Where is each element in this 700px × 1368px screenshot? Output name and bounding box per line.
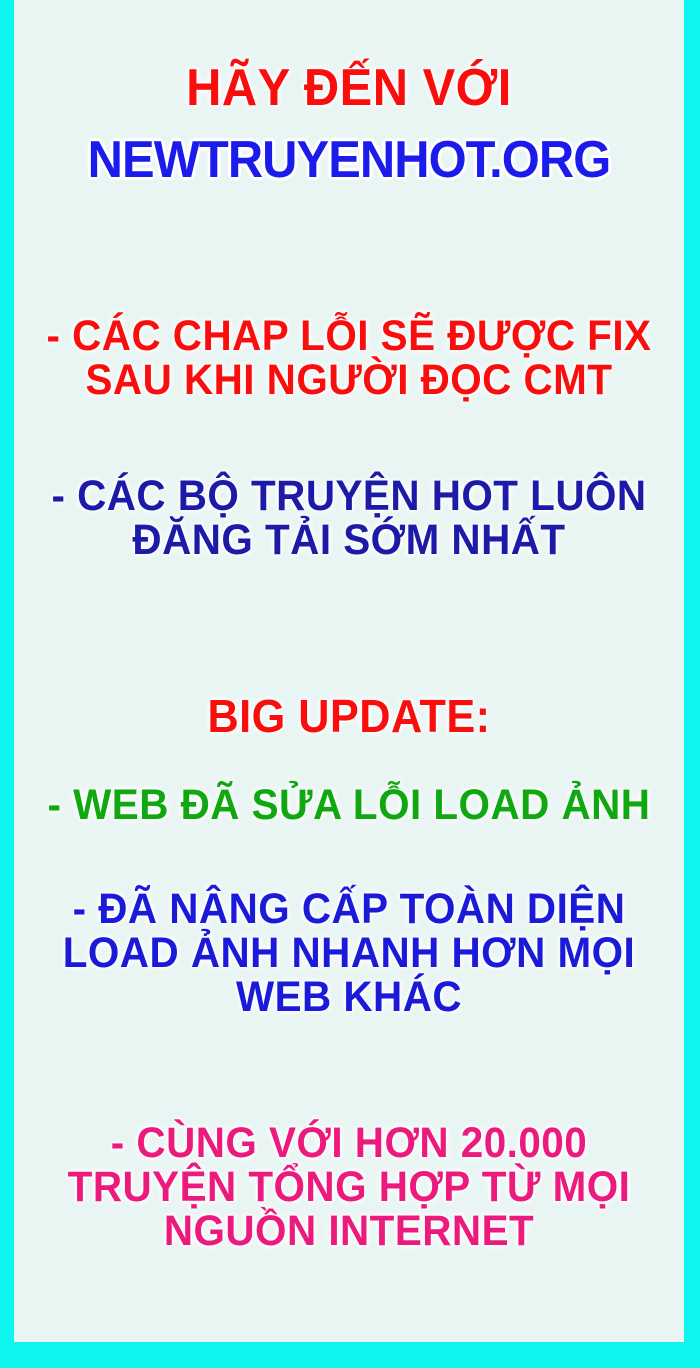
banner-surface: HÃY ĐẾN VỚI NEWTRUYENHOT.ORG - CÁC CHAP … [14, 0, 684, 1342]
headline-text: HÃY ĐẾN VỚI [44, 62, 655, 115]
update-green-block: - WEB ĐÃ SỬA LỖI LOAD ẢNH [24, 784, 674, 828]
notice-red-line-1: - CÁC CHAP LỖI SẼ ĐƯỢC FIX [44, 315, 655, 359]
notice-red-line-2: SAU KHI NGƯỜI ĐỌC CMT [44, 359, 655, 403]
update-green-line-1: - WEB ĐÃ SỬA LỖI LOAD ẢNH [44, 784, 655, 828]
frame-bar-left [0, 0, 14, 1368]
notice-red-block: - CÁC CHAP LỖI SẼ ĐƯỢC FIX SAU KHI NGƯỜI… [24, 315, 674, 403]
update-blue-line-3: WEB KHÁC [44, 976, 655, 1020]
notice-blue-line-2: ĐĂNG TẢI SỚM NHẤT [44, 519, 655, 563]
update-blue-block: - ĐÃ NÂNG CẤP TOÀN DIỆN LOAD ẢNH NHANH H… [24, 888, 674, 1020]
update-pink-line-2: TRUYỆN TỔNG HỢP TỪ MỌI [44, 1166, 655, 1210]
update-heading-block: BIG UPDATE: [24, 693, 674, 740]
headline-block: HÃY ĐẾN VỚI [24, 62, 674, 115]
site-domain-text[interactable]: NEWTRUYENHOT.ORG [44, 134, 655, 187]
update-pink-line-1: - CÙNG VỚI HƠN 20.000 [44, 1122, 655, 1166]
update-pink-block: - CÙNG VỚI HƠN 20.000 TRUYỆN TỔNG HỢP TỪ… [24, 1122, 674, 1254]
notice-blue-line-1: - CÁC BỘ TRUYỆN HOT LUÔN [44, 475, 655, 519]
frame-bar-right [684, 0, 700, 1368]
notice-blue-block: - CÁC BỘ TRUYỆN HOT LUÔN ĐĂNG TẢI SỚM NH… [24, 475, 674, 563]
update-blue-line-1: - ĐÃ NÂNG CẤP TOÀN DIỆN [44, 888, 655, 932]
frame-bar-bottom [0, 1342, 700, 1368]
promo-banner: HÃY ĐẾN VỚI NEWTRUYENHOT.ORG - CÁC CHAP … [0, 0, 700, 1368]
update-heading-text: BIG UPDATE: [44, 693, 655, 740]
domain-block: NEWTRUYENHOT.ORG [24, 134, 674, 187]
update-pink-line-3: NGUỒN INTERNET [44, 1210, 655, 1254]
update-blue-line-2: LOAD ẢNH NHANH HƠN MỌI [44, 932, 655, 976]
